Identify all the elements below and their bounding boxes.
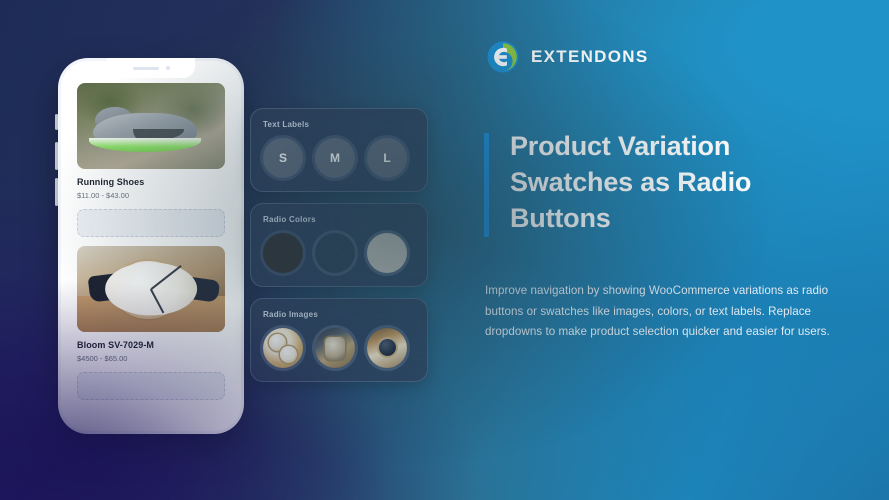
swatch-color-silver[interactable]	[367, 233, 407, 273]
swatch-row	[263, 328, 415, 368]
product-card[interactable]: Bloom SV-7029-M $4500 - $65.00	[77, 246, 225, 400]
swatch-size-l[interactable]: L	[367, 138, 407, 178]
swatch-size-m[interactable]: M	[315, 138, 355, 178]
page-title: Product Variation Swatches as Radio Butt…	[510, 128, 820, 237]
card-title: Text Labels	[263, 120, 415, 129]
phone-front-camera-icon	[166, 66, 170, 70]
phone-screen: Running Shoes $11.00 - $43.00 Bloom S	[61, 61, 241, 431]
phone-body: Running Shoes $11.00 - $43.00 Bloom S	[58, 58, 244, 434]
swatch-image-blue-watch[interactable]	[367, 328, 407, 368]
product-swatch-placeholder[interactable]	[77, 209, 225, 237]
product-title: Bloom SV-7029-M	[77, 340, 225, 350]
phone-notch	[107, 58, 195, 78]
card-title: Radio Images	[263, 310, 415, 319]
swatch-cards: Text Labels S M L Radio Colors Radio Ima…	[250, 108, 428, 393]
card-title: Radio Colors	[263, 215, 415, 224]
body-description: Improve navigation by showing WooCommerc…	[485, 281, 833, 343]
card-radio-images: Radio Images	[250, 298, 428, 382]
product-swatch-placeholder[interactable]	[77, 372, 225, 400]
swatch-image-square-watch[interactable]	[315, 328, 355, 368]
extendons-logo-icon	[486, 40, 520, 74]
brand-name: EXTENDONS	[531, 47, 649, 67]
accent-bar	[484, 133, 489, 237]
swatch-row: S M L	[263, 138, 415, 178]
swatch-color-navy[interactable]	[315, 233, 355, 273]
swatch-size-s[interactable]: S	[263, 138, 303, 178]
product-card[interactable]: Running Shoes $11.00 - $43.00	[77, 83, 225, 237]
headline-block: Product Variation Swatches as Radio Butt…	[484, 128, 820, 237]
phone-speaker	[133, 67, 159, 70]
promo-banner: Running Shoes $11.00 - $43.00 Bloom S	[0, 0, 889, 500]
swatch-row	[263, 233, 415, 273]
product-title: Running Shoes	[77, 177, 225, 187]
product-image-running-shoe	[77, 83, 225, 169]
brand-logo: EXTENDONS	[486, 40, 649, 74]
product-price: $4500 - $65.00	[77, 354, 225, 363]
card-radio-colors: Radio Colors	[250, 203, 428, 287]
card-text-labels: Text Labels S M L	[250, 108, 428, 192]
swatch-image-gold-watch[interactable]	[263, 328, 303, 368]
phone-mockup: Running Shoes $11.00 - $43.00 Bloom S	[58, 58, 244, 434]
swatch-color-black[interactable]	[263, 233, 303, 273]
product-price: $11.00 - $43.00	[77, 191, 225, 200]
product-image-wrist-watch	[77, 246, 225, 332]
